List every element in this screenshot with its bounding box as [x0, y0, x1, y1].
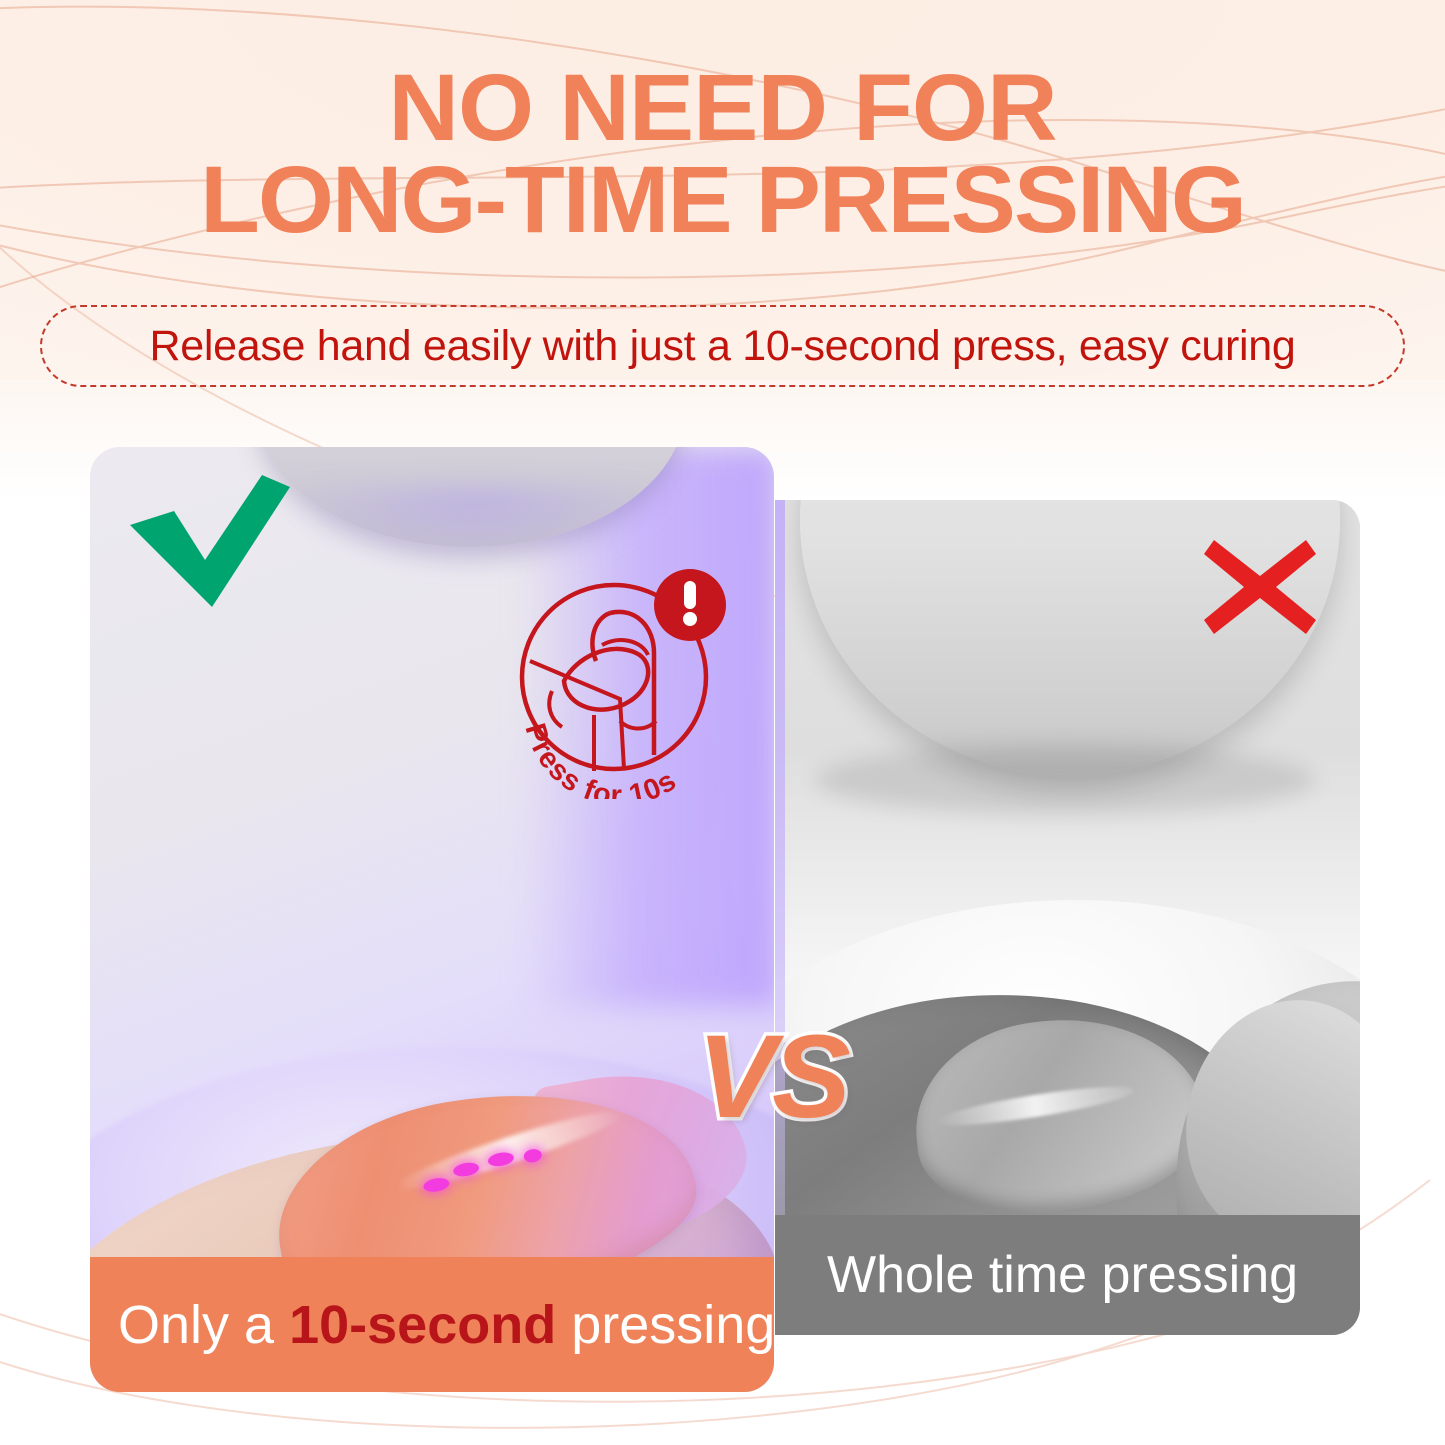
caption-bad-text: Whole time pressing [827, 1245, 1298, 1305]
caption-good: Only a 10-second pressing [90, 1257, 774, 1392]
caption-bad: Whole time pressing [775, 1215, 1360, 1335]
panel-bad: Whole time pressing [775, 500, 1360, 1335]
panel-good: Press for 10s Only a 10-second pressing [90, 447, 774, 1392]
caption-good-suffix: pressing [556, 1295, 774, 1355]
press-for-10s-badge: Press for 10s [502, 549, 737, 799]
caption-good-highlight: 10-second [289, 1295, 556, 1355]
infographic-page: NO NEED FOR LONG-TIME PRESSING Release h… [0, 0, 1445, 1445]
caption-good-text: Only a 10-second pressing [118, 1294, 774, 1356]
versus-badge: VS [672, 1012, 872, 1142]
versus-label: VS [697, 1018, 846, 1136]
caption-good-prefix: Only a [118, 1295, 289, 1355]
check-mark-icon [122, 467, 297, 617]
comparison-panels: Press for 10s Only a 10-second pressing [0, 0, 1445, 1445]
cross-mark-icon [1200, 532, 1320, 642]
